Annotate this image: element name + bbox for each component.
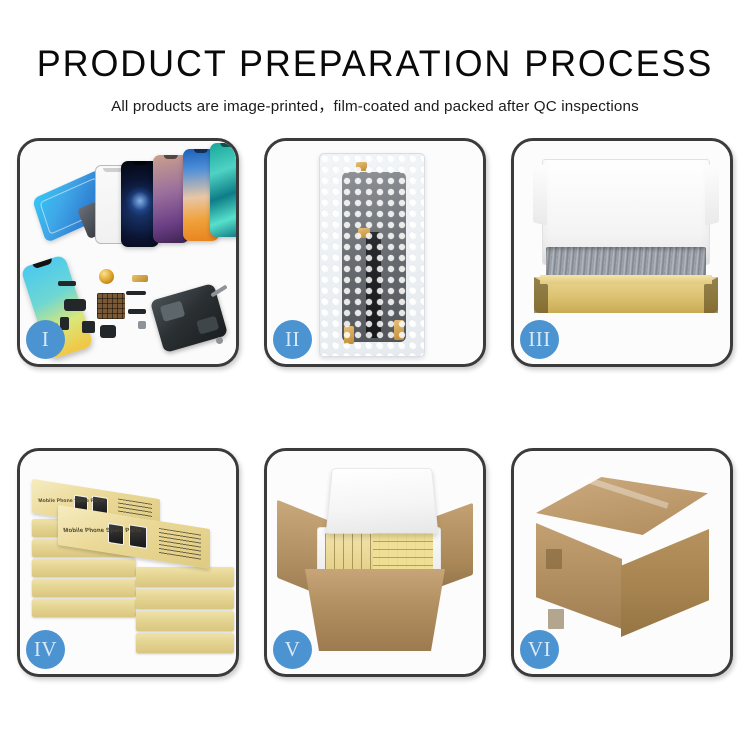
carton-tape-lower [548, 609, 564, 629]
step-badge-6: VI [520, 630, 559, 669]
bubble-wrap-bag-icon [319, 153, 425, 357]
step-panel-4[interactable]: Mobile Phone Spare Parts Mobile Phone Sp… [17, 448, 239, 677]
step-panel-3[interactable]: III [511, 138, 733, 367]
step-panel-1[interactable]: I [17, 138, 239, 367]
kraft-box-front-edge [540, 275, 712, 284]
process-steps-grid: I II [17, 138, 733, 677]
stack-box-front-2 [136, 589, 234, 609]
lid-text-block-front [159, 528, 201, 561]
part-cable-icon [126, 291, 146, 295]
header: PRODUCT PREPARATION PROCESS All products… [0, 0, 750, 116]
carton-body-icon [305, 569, 445, 651]
part-flex-gold-icon [132, 275, 148, 282]
phone-teal-icon [210, 143, 236, 237]
lid-brand-text-front: Mobile Phone Spare Parts [63, 528, 142, 534]
tape-bottom-right-icon [394, 320, 404, 340]
step-panel-6[interactable]: VI [511, 448, 733, 677]
part-strip-icon [128, 309, 146, 314]
step-badge-2: II [273, 320, 312, 359]
step-badge-3: III [520, 320, 559, 359]
tape-mid-icon [358, 228, 370, 238]
part-button-icon [82, 321, 95, 333]
foam-lid-open-icon [326, 468, 439, 534]
step-badge-1: I [26, 320, 65, 359]
part-camera-icon [100, 325, 116, 338]
step-badge-5: V [273, 630, 312, 669]
page-subtitle: All products are image-printed，film-coat… [0, 94, 750, 116]
part-screw-icon [138, 321, 146, 329]
tape-top-icon [356, 162, 367, 171]
gold-coil-icon [99, 269, 114, 284]
step-panel-5[interactable]: V [264, 448, 486, 677]
carton-top-face [536, 477, 708, 535]
stack-box-front-4 [136, 633, 234, 653]
part-bracket-icon [64, 299, 86, 311]
stack-box-front-1 [136, 567, 234, 587]
carton-right-face [621, 529, 709, 637]
flex-cable-icon [366, 232, 381, 338]
tape-bottom-left-icon [344, 326, 354, 344]
yellow-boxes-inside-icon [325, 533, 433, 575]
lid-phone-thumb-c [108, 523, 124, 546]
lid-brand-text-rear: Mobile Phone Spare Parts [38, 498, 105, 504]
page-title: PRODUCT PREPARATION PROCESS [11, 43, 739, 85]
carton-tape-upper [546, 549, 562, 569]
stack-box-front-3 [136, 611, 234, 631]
step-panel-2[interactable]: II [264, 138, 486, 367]
part-speaker-icon [58, 281, 76, 286]
stack-box-edge-3 [32, 559, 136, 577]
page-root: PRODUCT PREPARATION PROCESS All products… [0, 0, 750, 750]
part-washer-icon [216, 337, 223, 344]
stack-box-edge-4 [32, 579, 136, 597]
step-badge-4: IV [26, 630, 65, 669]
stack-box-edge-5 [32, 599, 136, 617]
connector-grid-icon [97, 293, 125, 319]
